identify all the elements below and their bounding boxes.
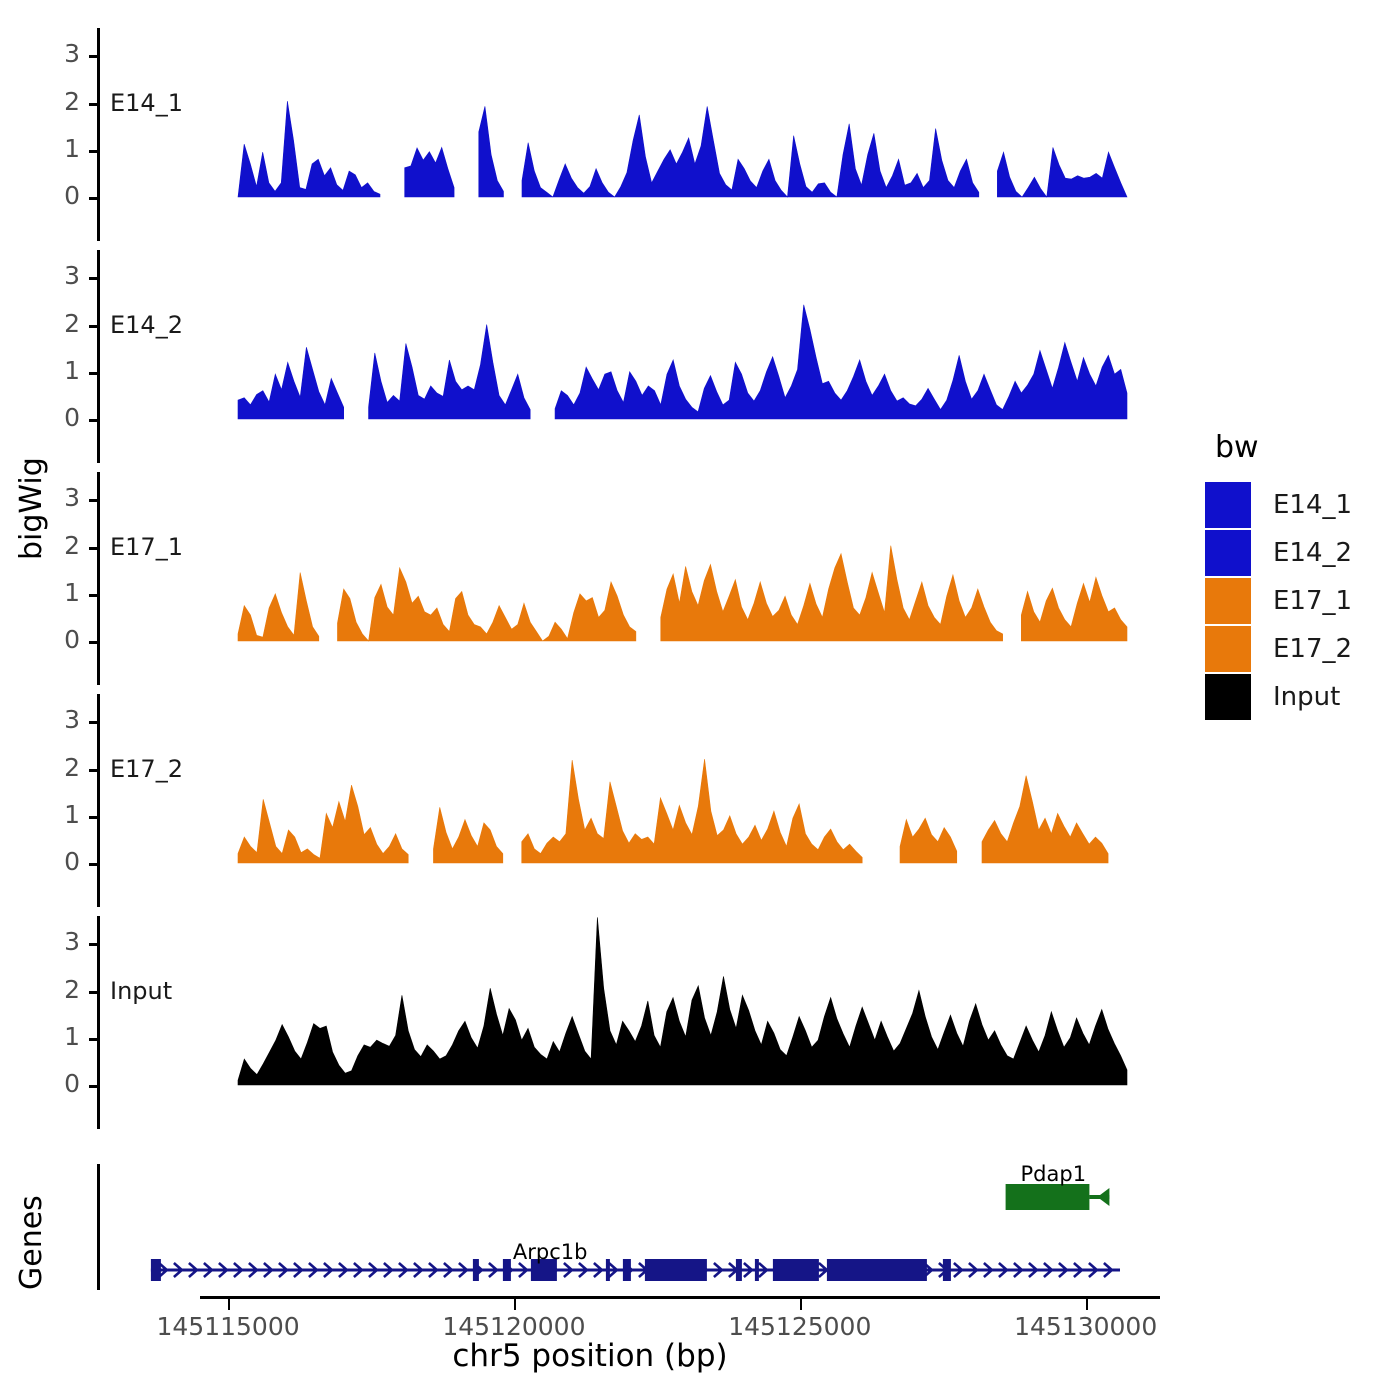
y-tick xyxy=(89,816,98,819)
legend-swatch-e17_2 xyxy=(1205,626,1251,672)
y-tick-label: 1 xyxy=(10,580,80,605)
y-tick-label: 2 xyxy=(10,533,80,558)
y-tick xyxy=(89,547,98,550)
y-tick-label: 1 xyxy=(10,802,80,827)
y-tick xyxy=(89,325,98,328)
y-tick-label: 2 xyxy=(10,89,80,114)
y-tick xyxy=(89,769,98,772)
signal-area-input xyxy=(108,916,1160,1131)
y-tick xyxy=(89,419,98,422)
y-tick xyxy=(89,641,98,644)
y-tick-label: 0 xyxy=(10,405,80,430)
y-tick-label: 3 xyxy=(10,41,80,66)
track-panel-e14_1: 0123E14_1 xyxy=(0,28,1180,243)
legend-item-e17_1[interactable]: E17_1 xyxy=(1205,577,1352,625)
signal-area-e14_1 xyxy=(108,28,1160,243)
y-tick-label: 0 xyxy=(10,849,80,874)
track-panel-input: 0123Input xyxy=(0,916,1180,1131)
y-tick xyxy=(89,991,98,994)
legend-item-e14_2[interactable]: E14_2 xyxy=(1205,529,1352,577)
y-tick-label: 1 xyxy=(10,358,80,383)
legend-items: E14_1E14_2E17_1E17_2Input xyxy=(1205,481,1352,721)
y-tick xyxy=(89,863,98,866)
signal-area-e17_2 xyxy=(108,694,1160,909)
x-tick-label: 145125000 xyxy=(710,1312,890,1341)
x-tick-label: 145130000 xyxy=(996,1312,1176,1341)
legend-label: E14_1 xyxy=(1273,490,1352,520)
legend-label: E17_1 xyxy=(1273,586,1352,616)
x-axis-line xyxy=(200,1296,1160,1299)
signal-area-e17_1 xyxy=(108,472,1160,687)
y-axis-line xyxy=(97,916,100,1129)
y-tick-label: 0 xyxy=(10,627,80,652)
legend-label: E14_2 xyxy=(1273,538,1352,568)
y-tick-label: 2 xyxy=(10,311,80,336)
x-tick xyxy=(514,1299,516,1310)
y-tick-label: 2 xyxy=(10,755,80,780)
track-panel-e17_1: 0123E17_1 xyxy=(0,472,1180,687)
y-axis-line xyxy=(97,472,100,685)
y-tick-label: 3 xyxy=(10,263,80,288)
legend-label: E17_2 xyxy=(1273,634,1352,664)
x-tick-label: 145120000 xyxy=(424,1312,604,1341)
legend-swatch-e14_1 xyxy=(1205,482,1251,528)
y-axis-line xyxy=(97,250,100,463)
y-tick xyxy=(89,1038,98,1041)
y-tick-label: 1 xyxy=(10,1024,80,1049)
y-tick-label: 0 xyxy=(10,1071,80,1096)
x-tick xyxy=(1086,1299,1088,1310)
genes-axis-line xyxy=(97,1164,100,1290)
x-tick xyxy=(800,1299,802,1310)
y-tick xyxy=(89,943,98,946)
legend-label: Input xyxy=(1273,682,1340,712)
legend-swatch-e14_2 xyxy=(1205,530,1251,576)
y-tick xyxy=(89,277,98,280)
y-tick xyxy=(89,1085,98,1088)
y-tick xyxy=(89,372,98,375)
gene-label-arpc1b: Arpc1b xyxy=(513,1240,588,1264)
y-tick-label: 3 xyxy=(10,707,80,732)
legend-swatch-e17_1 xyxy=(1205,578,1251,624)
genes-track-area: Pdap1Arpc1b xyxy=(108,1160,1160,1300)
y-axis-line xyxy=(97,694,100,907)
x-axis-label: chr5 position (bp) xyxy=(0,1338,1180,1374)
gene-label-pdap1: Pdap1 xyxy=(1021,1162,1087,1186)
signal-area-e14_2 xyxy=(108,250,1160,465)
legend-item-input[interactable]: Input xyxy=(1205,673,1352,721)
track-panel-e17_2: 0123E17_2 xyxy=(0,694,1180,909)
y-tick xyxy=(89,103,98,106)
x-tick-label: 145115000 xyxy=(138,1312,318,1341)
y-tick-label: 1 xyxy=(10,136,80,161)
y-tick-label: 2 xyxy=(10,977,80,1002)
legend-title: bw xyxy=(1215,430,1352,465)
y-axis-line xyxy=(97,28,100,241)
track-panel-e14_2: 0123E14_2 xyxy=(0,250,1180,465)
y-tick xyxy=(89,55,98,58)
y-tick-label: 3 xyxy=(10,485,80,510)
y-tick xyxy=(89,150,98,153)
legend: bw E14_1E14_2E17_1E17_2Input xyxy=(1205,430,1352,721)
legend-swatch-input xyxy=(1205,674,1251,720)
y-tick-label: 0 xyxy=(10,183,80,208)
legend-item-e14_1[interactable]: E14_1 xyxy=(1205,481,1352,529)
y-tick xyxy=(89,594,98,597)
y-tick xyxy=(89,721,98,724)
legend-item-e17_2[interactable]: E17_2 xyxy=(1205,625,1352,673)
y-tick xyxy=(89,499,98,502)
y-tick xyxy=(89,197,98,200)
x-tick xyxy=(228,1299,230,1310)
y-tick-label: 3 xyxy=(10,929,80,954)
genes-panel: Pdap1Arpc1b xyxy=(0,1160,1180,1300)
